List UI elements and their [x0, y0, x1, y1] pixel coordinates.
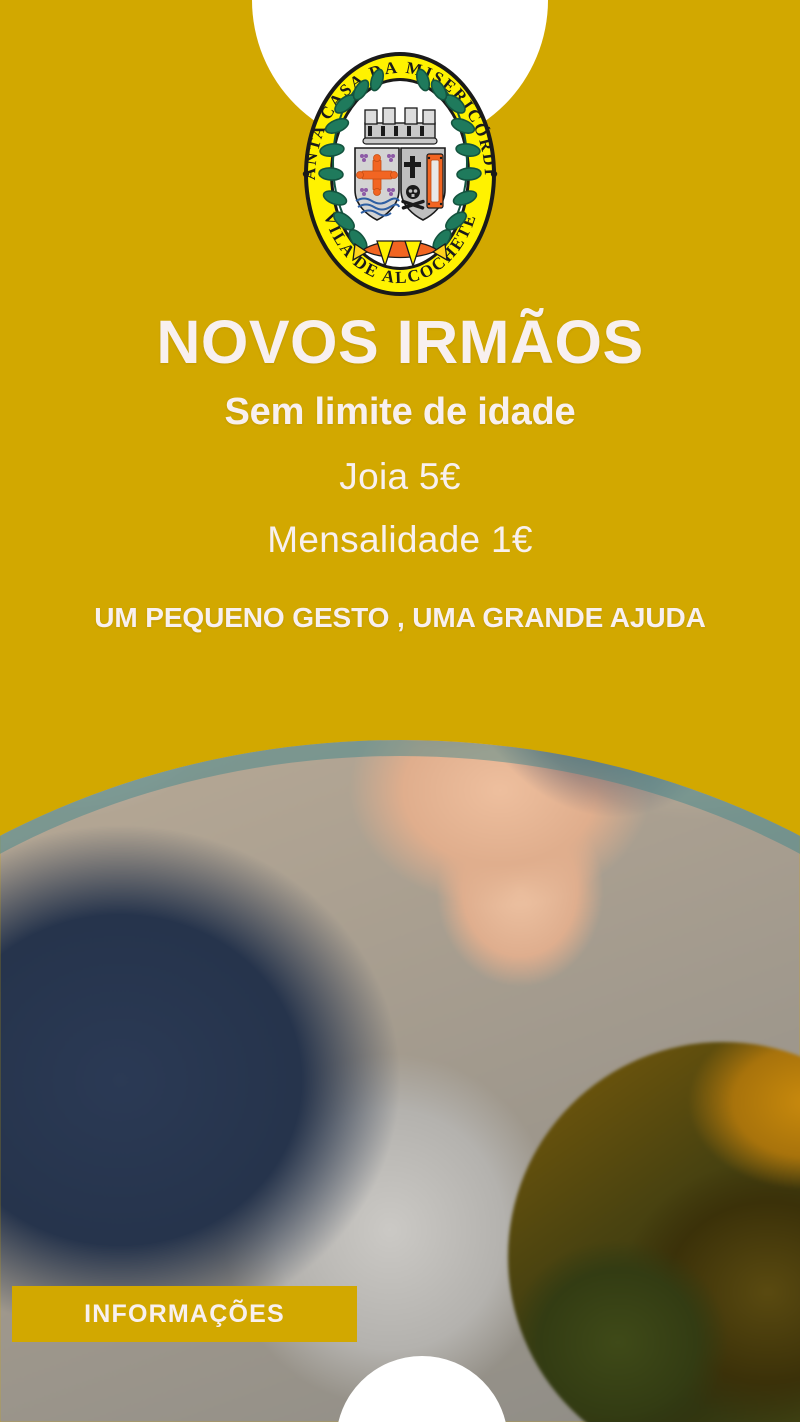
tagline: UM PEQUENO GESTO , UMA GRANDE AJUDA: [0, 602, 800, 634]
price-mensalidade: Mensalidade 1€: [0, 521, 800, 558]
page-title: NOVOS IRMÃOS: [0, 312, 800, 373]
informacoes-button-label: INFORMAÇÕES: [84, 1300, 285, 1329]
subtitle: Sem limite de idade: [0, 393, 800, 431]
informacoes-button[interactable]: INFORMAÇÕES: [12, 1286, 357, 1342]
poster-root: SANTA CASA DA MISERICÓRDIA VILA DE ALCOC…: [0, 0, 800, 1422]
price-joia: Joia 5€: [0, 458, 800, 495]
santa-casa-crest-logo: SANTA CASA DA MISERICÓRDIA VILA DE ALCOC…: [293, 38, 507, 310]
poster-text-block: NOVOS IRMÃOS Sem limite de idade Joia 5€…: [0, 312, 800, 634]
